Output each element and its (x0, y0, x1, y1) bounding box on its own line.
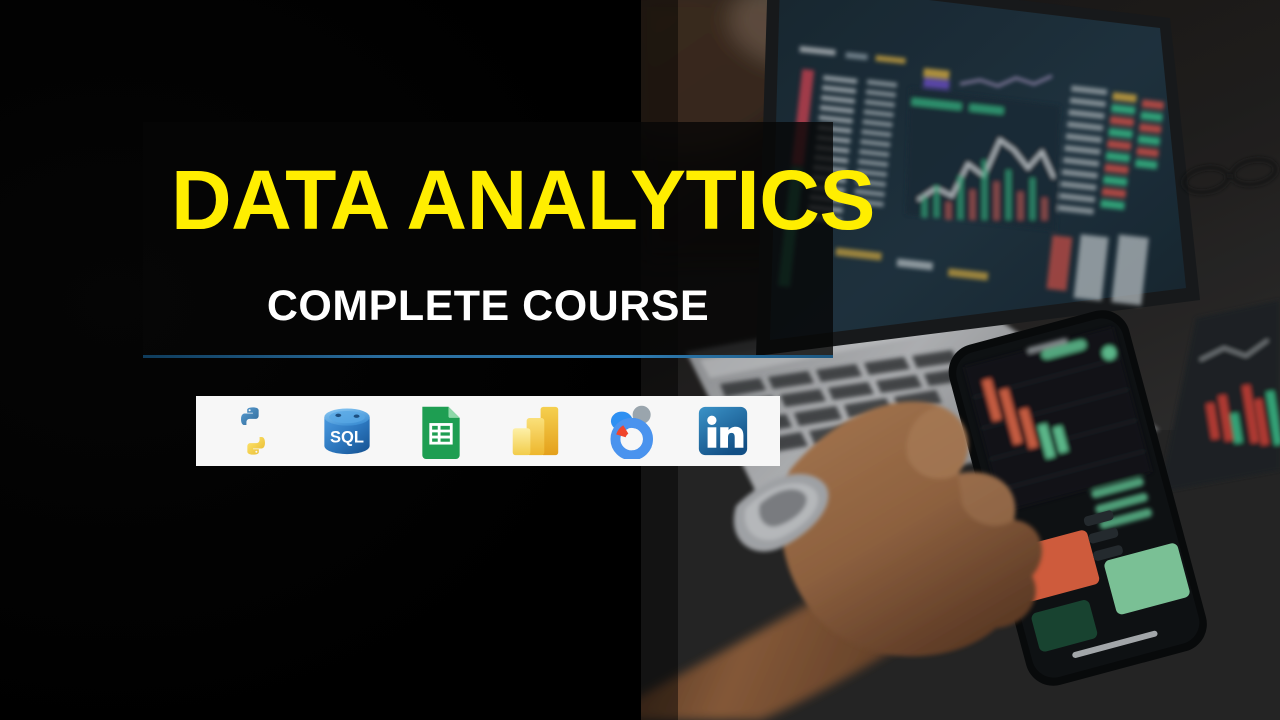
power-bi-icon (504, 402, 566, 460)
background-photo-art (640, 0, 1280, 720)
left-dark-panel (0, 0, 641, 720)
title-overlay-card: DATA ANALYTICS COMPLETE COURSE (143, 122, 833, 358)
page-title: DATA ANALYTICS (171, 158, 811, 242)
page-subtitle: COMPLETE COURSE (143, 285, 833, 328)
accent-underline (143, 355, 833, 358)
sql-database-icon: SQL (316, 402, 378, 460)
google-sheets-icon (410, 402, 472, 460)
python-icon (222, 402, 284, 460)
background-photo (640, 0, 1280, 720)
looker-studio-icon (598, 402, 660, 460)
linkedin-icon (692, 402, 754, 460)
thumbnail-canvas: DATA ANALYTICS COMPLETE COURSE (0, 0, 1280, 720)
tool-logo-strip: SQL (196, 396, 780, 466)
svg-text:SQL: SQL (330, 427, 364, 446)
